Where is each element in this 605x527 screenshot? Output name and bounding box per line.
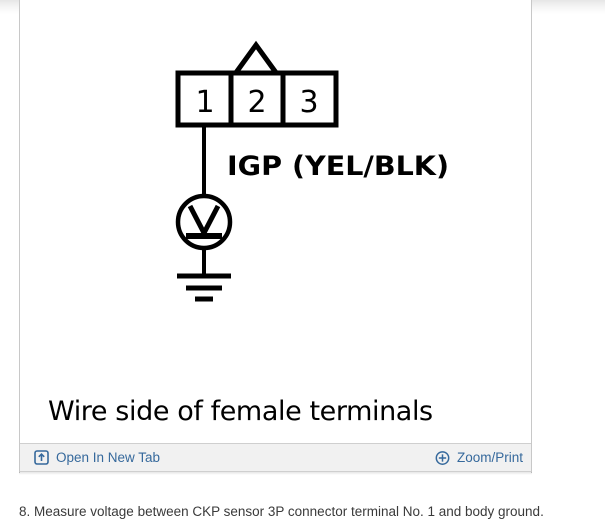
viewer-toolbar: Open In New Tab Zoom/Print	[20, 443, 531, 472]
terminal-number-1: 1	[195, 85, 214, 120]
zoom-print-label: Zoom/Print	[457, 451, 523, 465]
toolbar-drop-shadow	[19, 472, 532, 475]
image-viewer-panel: 1 2 3 IGP (YEL/BLK) Wire side of female …	[19, 0, 532, 473]
connector-notch-icon	[235, 45, 277, 74]
connector-wiring-diagram: 1 2 3 IGP (YEL/BLK)	[20, 0, 531, 443]
voltmeter-symbol	[178, 196, 230, 248]
wire-label: IGP (YEL/BLK)	[227, 151, 449, 182]
diagram-caption: Wire side of female terminals	[48, 396, 433, 427]
open-in-new-tab-button[interactable]: Open In New Tab	[34, 450, 160, 465]
zoom-in-circle-icon	[435, 450, 450, 465]
terminal-number-3: 3	[299, 85, 318, 120]
step-instruction-text: 8. Measure voltage between CKP sensor 3P…	[19, 503, 594, 521]
open-in-new-tab-label: Open In New Tab	[56, 451, 160, 465]
zoom-print-button[interactable]: Zoom/Print	[435, 450, 523, 465]
diagram-image[interactable]: 1 2 3 IGP (YEL/BLK) Wire side of female …	[20, 0, 531, 443]
terminal-number-2: 2	[247, 85, 266, 120]
open-in-new-tab-icon	[34, 450, 49, 465]
